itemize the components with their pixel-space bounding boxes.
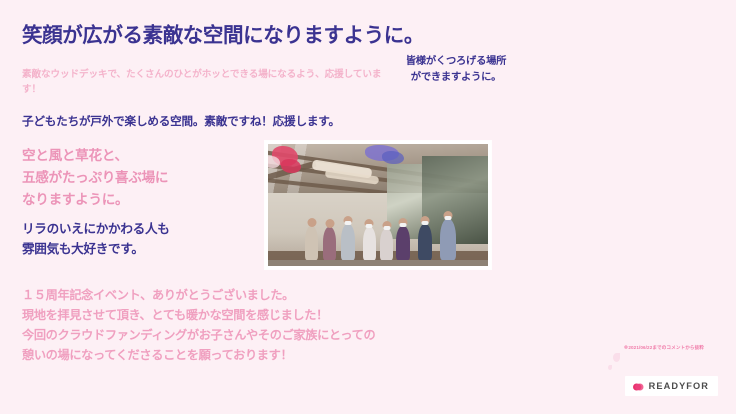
face-mask-icon xyxy=(366,224,373,228)
comments-source-footnote: ※2021/06/22までのコメントから抜粋 xyxy=(624,345,704,351)
seated-person xyxy=(396,226,410,260)
pink-paragraph-comment: １５周年記念イベント、ありがとうございました。 現地を拝見させて頂き、とても暖か… xyxy=(22,286,375,366)
face-mask-icon xyxy=(344,221,351,225)
petal-decoration xyxy=(608,365,612,370)
seated-person xyxy=(418,224,432,260)
readyfor-logo: READYFOR xyxy=(625,376,718,396)
seated-person xyxy=(323,227,336,260)
face-mask-icon xyxy=(444,216,451,220)
page-title: 笑顔が広がる素敵な空間になりますように。 xyxy=(22,24,522,49)
face-mask-icon xyxy=(383,226,390,230)
face-mask-icon xyxy=(421,221,428,225)
vertical-comments-region: このような場所が大切だと思います。障害や病気で大変なご家族の為に頑張って下さい。… xyxy=(498,16,736,364)
seated-person xyxy=(380,229,393,260)
face-mask-icon xyxy=(399,223,406,227)
navy-stanza-comment: リラのいえにかかわる人も 雰囲気も大好きです。 xyxy=(22,219,170,259)
koinobori-streamer xyxy=(382,151,404,164)
seated-person xyxy=(440,219,456,260)
person-head xyxy=(325,219,334,228)
person-head xyxy=(307,218,316,227)
pink-stanza-comment: 空と風と草花と、 五感がたっぷり喜ぶ場に なりますように。 xyxy=(22,145,168,211)
photo-frame xyxy=(265,141,491,269)
readyfor-mark-icon xyxy=(632,380,644,392)
slide-canvas: 笑顔が広がる素敵な空間になりますように。 素敵なウッドデッキで、たくさんのひとが… xyxy=(0,0,736,414)
navy-comment-line: 子どもたちが戸外で楽しめる空間。素敵ですね！応援します。 xyxy=(22,113,340,129)
petal-decoration xyxy=(613,353,620,362)
koinobori-streamer xyxy=(268,156,280,168)
deck-floor xyxy=(268,260,488,266)
readyfor-logo-text: READYFOR xyxy=(649,381,709,391)
seated-person xyxy=(363,227,376,260)
deck-gathering-photo xyxy=(268,144,488,266)
seated-person xyxy=(305,226,318,260)
subtitle-pink-comment: 素敵なウッドデッキで、たくさんのひとがホッとできる場になるよう、応援しています！ xyxy=(22,68,382,98)
seated-person xyxy=(341,224,355,260)
